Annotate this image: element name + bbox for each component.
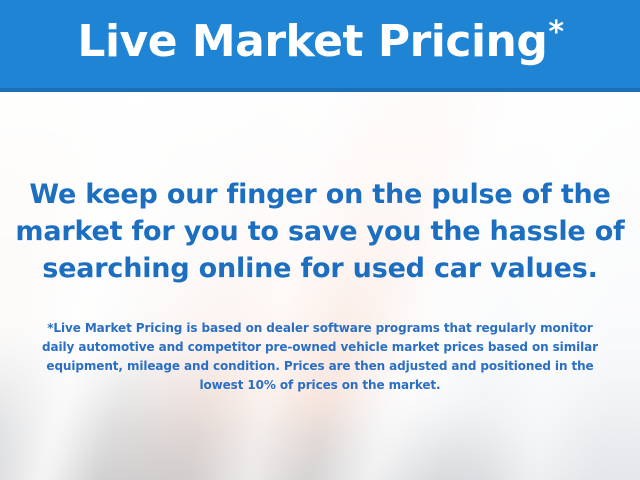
- disclaimer-line-1: *Live Market Pricing is based on dealer …: [0, 319, 640, 338]
- disclaimer-line-4: lowest 10% of prices on the market.: [0, 376, 640, 395]
- disclaimer-line-2: daily automotive and competitor pre-owne…: [0, 338, 640, 357]
- marketing-slide: Live Market Pricing* We keep our finger …: [0, 0, 640, 480]
- header-banner: Live Market Pricing*: [0, 0, 640, 92]
- page-title-text: Live Market Pricing: [77, 16, 547, 67]
- tagline-line-1: We keep our finger on the pulse of the: [0, 176, 640, 213]
- tagline-line-2: market for you to save you the hassle of: [0, 213, 640, 250]
- tagline-line-3: searching online for used car values.: [0, 250, 640, 287]
- disclaimer: *Live Market Pricing is based on dealer …: [0, 319, 640, 395]
- page-title: Live Market Pricing*: [77, 20, 562, 64]
- tagline: We keep our finger on the pulse of the m…: [0, 176, 640, 287]
- disclaimer-line-3: equipment, mileage and condition. Prices…: [0, 357, 640, 376]
- footnote-marker: *: [548, 15, 563, 50]
